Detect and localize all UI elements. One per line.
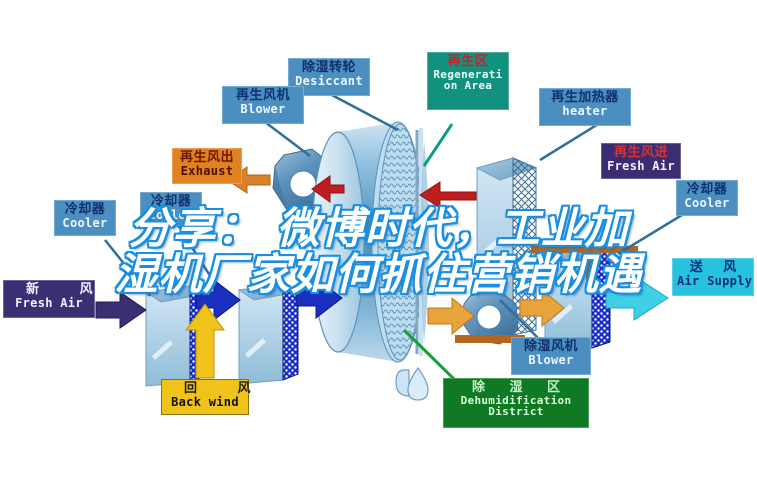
callout-leader-lines bbox=[0, 0, 757, 488]
arrow-regeneration-inlet bbox=[455, 238, 638, 343]
callout-fresh-air-inlet[interactable]: 新 风 Fresh Air bbox=[3, 280, 95, 318]
headline-line-2: 湿机厂家如何抓住营销机遇 bbox=[0, 252, 757, 298]
arrow-return-air bbox=[186, 304, 224, 378]
arrow-regeneration-hot-air bbox=[312, 176, 476, 208]
callout-back-wind[interactable]: 回 风 Back wind bbox=[161, 379, 249, 415]
label-cn: 再生风机 bbox=[227, 89, 299, 103]
label-cn: 冷却器 bbox=[59, 203, 111, 217]
diagram-artwork: XT bbox=[0, 0, 757, 488]
arrow-dry-air bbox=[428, 290, 564, 334]
label-cn: 新 风 bbox=[8, 283, 90, 297]
label-cn: 除 湿 区 bbox=[448, 381, 584, 395]
label-en: Blower bbox=[516, 354, 586, 367]
label-en: Exhaust bbox=[177, 165, 237, 178]
callout-air-supply[interactable]: 送 风 Air Supply bbox=[672, 258, 754, 296]
label-en: Cooler bbox=[681, 197, 733, 210]
callout-cooler-right[interactable]: 冷却器 Cooler bbox=[676, 180, 738, 216]
left-inlet-section bbox=[146, 284, 298, 386]
label-en: Blower bbox=[227, 103, 299, 116]
label-cn: 再生风出 bbox=[177, 151, 237, 165]
callout-regeneration-heater[interactable]: 再生加热器 heater bbox=[539, 88, 631, 126]
callout-dehumidification-district[interactable]: 除 湿 区 Dehumidification District bbox=[443, 378, 589, 428]
label-cn: 冷却器 bbox=[145, 195, 197, 209]
label-en: Back wind bbox=[166, 396, 244, 409]
label-en: Cooler bbox=[59, 217, 111, 230]
label-en-line2: on Area bbox=[432, 80, 504, 92]
label-cn: 再生风进 bbox=[606, 146, 676, 160]
callout-regeneration-area[interactable]: 再生区 Regenerati on Area bbox=[427, 52, 509, 110]
label-en: Air Supply bbox=[677, 275, 749, 288]
regeneration-heater-unit bbox=[477, 158, 536, 342]
callout-regeneration-blower[interactable]: 再生风机 Blower bbox=[222, 86, 304, 124]
arrow-fresh-air-inlet bbox=[96, 292, 146, 328]
diagram-canvas: XT bbox=[0, 0, 757, 488]
callout-dehumidification-blower[interactable]: 除湿风机 Blower bbox=[511, 337, 591, 375]
regeneration-fan-housing bbox=[273, 149, 334, 214]
dehumidification-fan-housing bbox=[462, 290, 518, 344]
label-cn: 再生加热器 bbox=[544, 91, 626, 105]
right-cooler-section bbox=[545, 244, 610, 352]
label-cn: 送 风 bbox=[677, 261, 749, 275]
label-cn: 除湿风机 bbox=[516, 340, 586, 354]
callout-regeneration-fresh-air[interactable]: 再生风进 Fresh Air bbox=[601, 143, 681, 179]
label-cn: 冷却器 bbox=[681, 183, 733, 197]
condensate-drain bbox=[396, 368, 428, 400]
label-cn: 再生区 bbox=[432, 55, 504, 69]
callout-cooler-left-2[interactable]: 冷却器 Cooler bbox=[140, 192, 202, 226]
label-cn: 除湿转轮 bbox=[293, 61, 365, 75]
callout-regeneration-exhaust[interactable]: 再生风出 Exhaust bbox=[172, 148, 242, 184]
label-en: Fresh Air bbox=[8, 297, 90, 310]
label-en: Cooler bbox=[145, 209, 197, 222]
arrow-process-air bbox=[196, 278, 342, 320]
arrow-supply-air bbox=[606, 276, 668, 320]
callout-cooler-left-1[interactable]: 冷却器 Cooler bbox=[54, 200, 116, 236]
label-en: Fresh Air bbox=[606, 160, 676, 173]
desiccant-rotor: XT bbox=[312, 122, 429, 362]
label-en: heater bbox=[544, 105, 626, 118]
label-cn: 回 风 bbox=[166, 382, 244, 396]
svg-text:XT: XT bbox=[358, 307, 375, 322]
label-en-line2: District bbox=[448, 406, 584, 418]
